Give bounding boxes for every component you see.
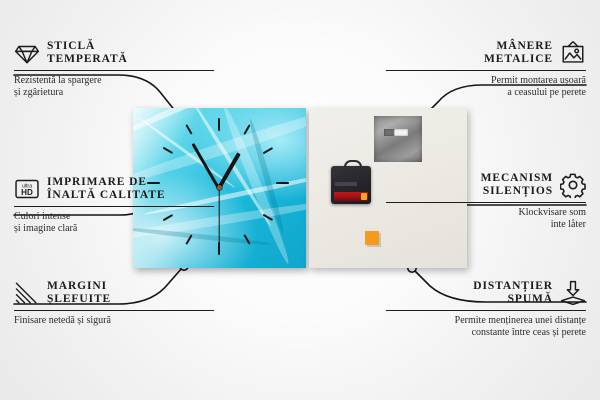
foam-spacer-part [365, 231, 379, 245]
callout-subtitle: Culori intense și imagine clară [14, 211, 214, 235]
svg-text:HD: HD [21, 188, 33, 197]
callout-title: IMPRIMARE DE ÎNALTĂ CALITATE [47, 176, 165, 202]
callout-title: MÂNERE METALICE [484, 40, 553, 66]
clock-tick [276, 182, 289, 184]
movement-slot [335, 182, 357, 186]
clock-tick [263, 147, 273, 154]
clock-center-hub [217, 185, 222, 190]
clock-tick [163, 147, 173, 154]
callout-subtitle: Permite menținerea unei distanțe constan… [386, 315, 586, 339]
callout-title: MECANISM SILENȚIOS [481, 172, 553, 198]
clock-second-hand [218, 188, 219, 244]
callout-title: DISTANȚIER SPUMĂ [473, 280, 553, 306]
arrow-into-stack-icon [560, 280, 586, 306]
callout-divider [386, 310, 586, 311]
callout-polished-edges: MARGINI ȘLEFUITE Finisare netedă și sigu… [14, 280, 214, 327]
callout-divider [386, 202, 586, 203]
callout-foam-spacer: DISTANȚIER SPUMĂ Permite menținerea unei… [386, 280, 586, 339]
callout-title: STICLĂ TEMPERATĂ [47, 40, 128, 66]
callout-subtitle: Permit montarea ușoară a ceasului pe per… [386, 75, 586, 99]
hatched-edge-icon [14, 280, 40, 306]
callout-divider [14, 70, 214, 71]
quartz-movement-part [331, 166, 371, 204]
callout-subtitle: Finisare netedă și sigură [14, 315, 214, 327]
callout-metal-handles: MÂNERE METALICE Permit montarea ușoară a… [386, 40, 586, 99]
hanger-loop [344, 160, 362, 171]
gear-icon [560, 172, 586, 198]
hanging-frame-icon [560, 40, 586, 66]
clock-tick [218, 242, 220, 255]
callout-divider [14, 310, 214, 311]
callout-subtitle: Klockvisare som inte låter [386, 207, 586, 231]
clock-tick [218, 118, 220, 131]
clock-tick [185, 124, 192, 134]
diamond-icon [14, 40, 40, 66]
callout-subtitle: Rezistentă la spargere și zgârietura [14, 75, 214, 99]
callout-print-quality: ultra HD IMPRIMARE DE ÎNALTĂ CALITATE Cu… [14, 176, 214, 235]
metal-hanger-part [374, 116, 422, 162]
callout-silent-mechanism: MECANISM SILENȚIOS Klockvisare som inte … [386, 172, 586, 231]
callout-divider [14, 206, 214, 207]
battery-part [334, 192, 368, 201]
callout-title: MARGINI ȘLEFUITE [47, 280, 111, 306]
callout-divider [386, 70, 586, 71]
ultra-hd-icon: ultra HD [14, 176, 40, 202]
callout-tempered-glass: STICLĂ TEMPERATĂ Rezistentă la spargere … [14, 40, 214, 99]
infographic-canvas: STICLĂ TEMPERATĂ Rezistentă la spargere … [0, 0, 600, 400]
